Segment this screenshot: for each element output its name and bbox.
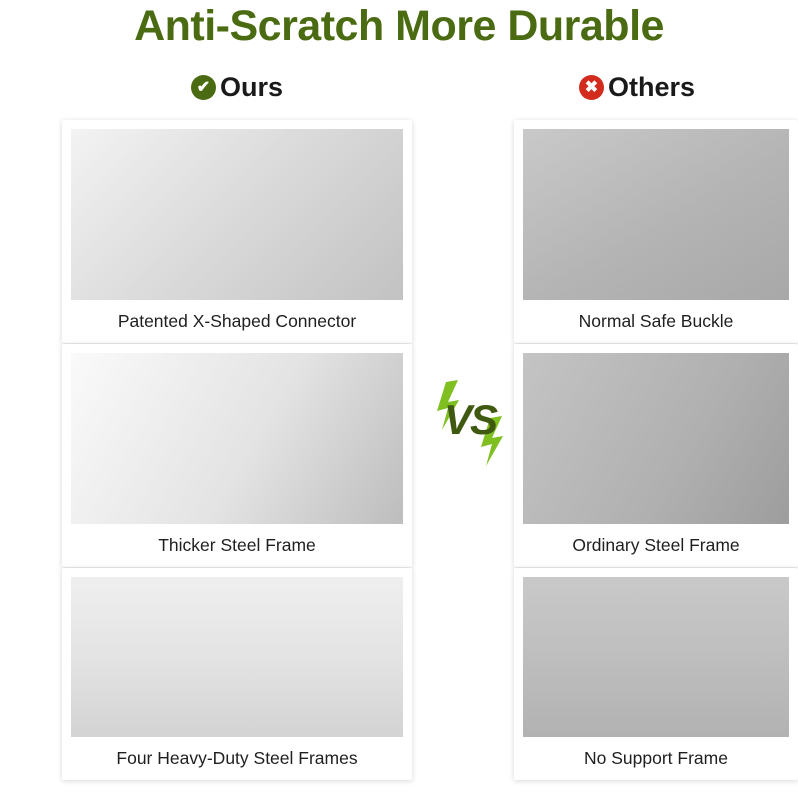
- column-label-others: Others: [608, 72, 695, 103]
- card-others-no-support: No Support Frame: [514, 568, 798, 780]
- chair-no-support-photo: [523, 577, 789, 737]
- chair-four-legs-photo: [71, 577, 403, 737]
- column-header-others: ✖ Others: [472, 72, 798, 103]
- card-ours-x-connector: Patented X-Shaped Connector: [62, 120, 412, 343]
- card-caption: Patented X-Shaped Connector: [62, 300, 412, 343]
- thick-steel-tube-photo: [71, 353, 403, 524]
- x-shaped-connector-photo: [71, 129, 403, 300]
- column-label-ours: Ours: [220, 72, 283, 103]
- normal-buckle-photo: [523, 129, 789, 300]
- vs-label: VS: [428, 396, 512, 444]
- card-caption: Ordinary Steel Frame: [514, 524, 798, 567]
- card-others-buckle: Normal Safe Buckle: [514, 120, 798, 343]
- card-caption: Four Heavy-Duty Steel Frames: [62, 737, 412, 780]
- check-circle-icon: ✔: [191, 75, 216, 100]
- card-ours-four-legs: Four Heavy-Duty Steel Frames: [62, 568, 412, 780]
- card-caption: Thicker Steel Frame: [62, 524, 412, 567]
- card-others-thin-frame: Ordinary Steel Frame: [514, 344, 798, 567]
- page-title: Anti-Scratch More Durable: [0, 2, 798, 51]
- column-header-ours: ✔ Ours: [62, 72, 412, 103]
- cross-circle-icon: ✖: [579, 75, 604, 100]
- card-caption: Normal Safe Buckle: [514, 300, 798, 343]
- card-ours-thick-frame: Thicker Steel Frame: [62, 344, 412, 567]
- card-caption: No Support Frame: [514, 737, 798, 780]
- vs-badge: VS: [428, 378, 512, 468]
- thin-steel-tube-photo: [523, 353, 789, 524]
- comparison-infographic: Anti-Scratch More Durable ✔ Ours ✖ Other…: [0, 0, 798, 800]
